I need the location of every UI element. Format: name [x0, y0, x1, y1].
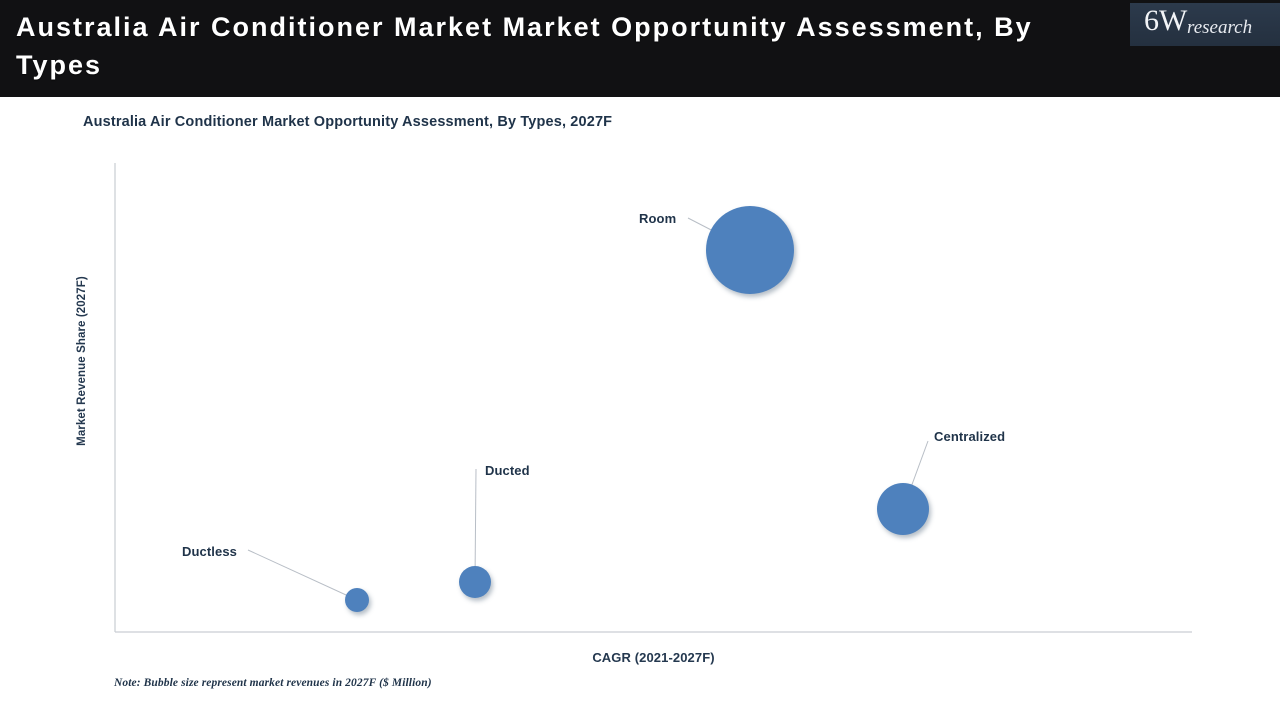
- y-axis-title: Market Revenue Share (2027F): [76, 236, 88, 486]
- logo-wordmark-research: research: [1187, 16, 1252, 40]
- bubble-room[interactable]: [706, 206, 794, 294]
- header-bar: Australia Air Conditioner Market Market …: [0, 0, 1280, 97]
- chart-title: Australia Air Conditioner Market Opportu…: [83, 114, 612, 130]
- brand-logo[interactable]: 6W research: [1130, 3, 1280, 46]
- page-title: Australia Air Conditioner Market Market …: [16, 8, 1106, 84]
- bubble-ducted[interactable]: [459, 566, 491, 598]
- chart-note: Note: Bubble size represent market reven…: [114, 677, 432, 689]
- bubble-label-centralized: Centralized: [934, 429, 1005, 444]
- bubble-chart-plot: [0, 0, 1280, 720]
- x-axis-title: CAGR (2021-2027F): [115, 650, 1192, 665]
- bubble-label-ducted: Ducted: [485, 463, 530, 478]
- label-leader-lines: [248, 218, 928, 600]
- bubble-centralized[interactable]: [877, 483, 929, 535]
- bubble-label-ductless: Ductless: [182, 544, 237, 559]
- bubble-ductless[interactable]: [345, 588, 369, 612]
- leader-line: [248, 550, 357, 600]
- logo-mark-6w: 6W: [1144, 3, 1187, 41]
- bubble-label-room: Room: [639, 211, 676, 226]
- chart-axes: [115, 163, 1192, 632]
